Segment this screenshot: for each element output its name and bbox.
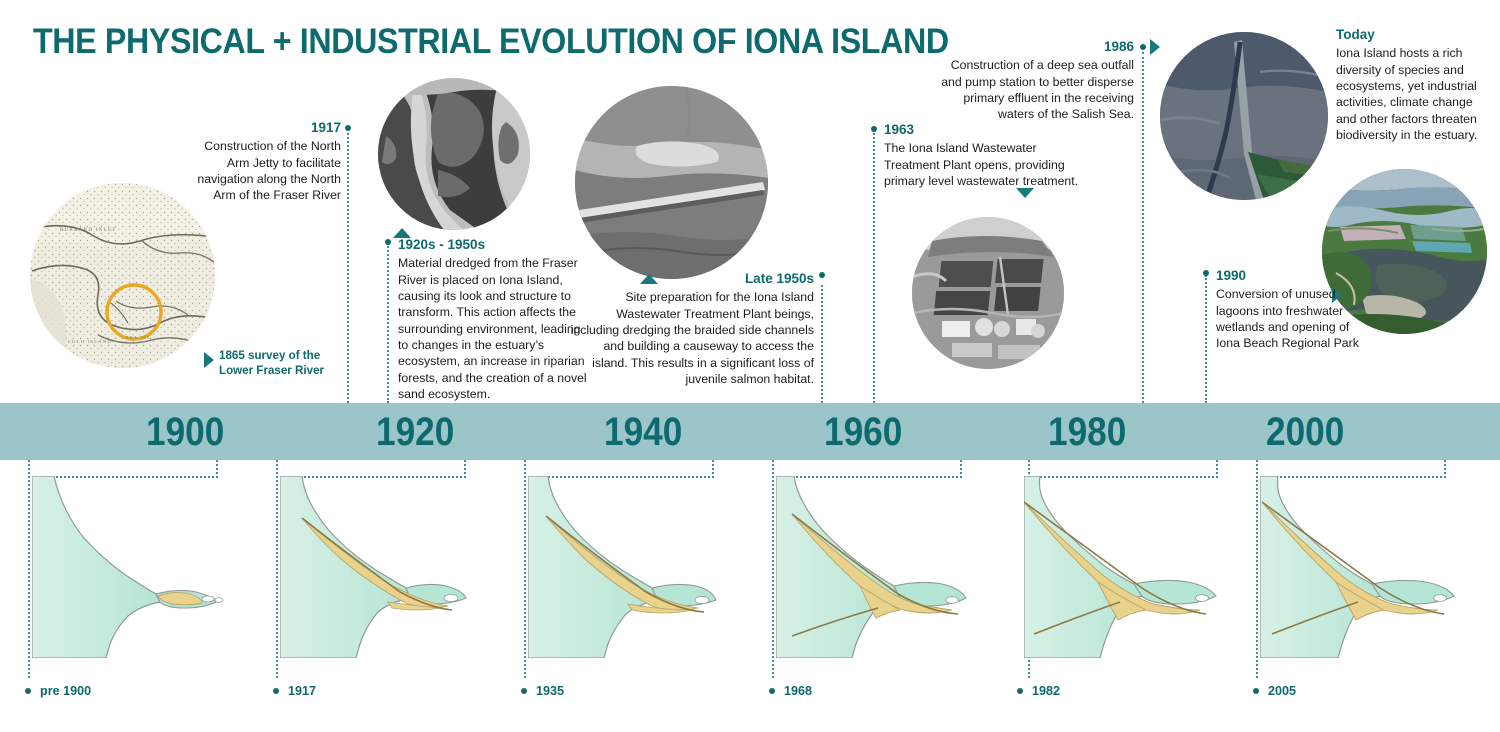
connector-line-1917 <box>347 128 349 403</box>
annotation-body: Iona Island hosts a rich diversity of sp… <box>1336 45 1491 143</box>
map-panel-pre-1900 <box>32 476 240 658</box>
infographic-canvas: THE PHYSICAL + INDUSTRIAL EVOLUTION OF I… <box>0 0 1500 732</box>
connector-dot-late1950s <box>819 272 825 278</box>
panel-dot-3 <box>521 688 527 694</box>
connector-line-1920s <box>387 243 389 403</box>
panel-dot-2 <box>273 688 279 694</box>
photo-1986-outfall <box>1160 32 1328 200</box>
panel-connector-line-2 <box>276 460 278 678</box>
connector-dot-1963 <box>871 126 877 132</box>
photo-1963-plant <box>912 217 1064 369</box>
annotation-year: 1920s - 1950s <box>398 236 594 254</box>
timeline-year-2000: 2000 <box>1266 410 1344 455</box>
annotation-year: 1917 <box>183 119 341 137</box>
annotation-body: Construction of the North Arm Jetty to f… <box>183 138 341 203</box>
timeline-year-1920: 1920 <box>376 410 454 455</box>
timeline-year-1900: 1900 <box>146 410 224 455</box>
annotation-1963: 1963 The Iona Island Wastewater Treatmen… <box>884 121 1084 189</box>
photo-1920s-aerial <box>378 78 530 230</box>
panel-connector-line-4 <box>772 460 774 678</box>
triangle-right-icon <box>204 352 214 368</box>
timeline-band: 1900 1920 1940 1960 1980 2000 <box>0 403 1500 460</box>
timeline-year-1980: 1980 <box>1048 410 1126 455</box>
map-panel-1917 <box>280 476 488 658</box>
connector-line-1990 <box>1205 275 1207 403</box>
panel-connector-line-3 <box>524 460 526 678</box>
map-panel-1982 <box>1024 476 1232 658</box>
connector-dot-1990 <box>1203 270 1209 276</box>
panel-connector-line-1 <box>28 460 30 678</box>
connector-line-1963 <box>873 130 875 403</box>
page-title: THE PHYSICAL + INDUSTRIAL EVOLUTION OF I… <box>33 22 949 62</box>
annotation-body: Site preparation for the Iona Island Was… <box>568 289 814 387</box>
panel-connector-line-6 <box>1256 460 1258 678</box>
panel-dot-4 <box>769 688 775 694</box>
annotation-year: 1963 <box>884 121 1084 139</box>
panel-dot-6 <box>1253 688 1259 694</box>
svg-text:SEA ISL: SEA ISL <box>126 335 151 340</box>
photo-1865-survey: BURRARD INLET LULU ISLAND SEA ISL <box>30 183 215 368</box>
connector-dot-1920s <box>385 239 391 245</box>
map-panel-1968 <box>776 476 984 658</box>
annotation-1917: 1917 Construction of the North Arm Jetty… <box>183 119 341 204</box>
annotation-1920s-1950s: 1920s - 1950s Material dredged from the … <box>398 236 594 402</box>
map-caption-line1: 1865 survey of the <box>219 348 324 363</box>
annotation-body: Material dredged from the Fraser River i… <box>398 255 594 402</box>
annotation-body: Conversion of unused lagoons into freshw… <box>1216 286 1371 351</box>
timeline-year-1960: 1960 <box>824 410 902 455</box>
panel-label-1935: 1935 <box>536 684 564 698</box>
annotation-body: The Iona Island Wastewater Treatment Pla… <box>884 140 1084 189</box>
timeline-year-1940: 1940 <box>604 410 682 455</box>
annotation-1986: 1986 Construction of a deep sea outfall … <box>930 38 1134 123</box>
panel-label-pre-1900: pre 1900 <box>40 684 91 698</box>
annotation-year: Late 1950s <box>568 270 814 288</box>
annotation-year: 1986 <box>930 38 1134 56</box>
panel-label-1968: 1968 <box>784 684 812 698</box>
triangle-right-icon-1986 <box>1150 39 1160 55</box>
panel-label-2005: 2005 <box>1268 684 1296 698</box>
map-caption-line2: Lower Fraser River <box>219 363 324 378</box>
connector-line-1986 <box>1142 52 1144 403</box>
map-panel-2005 <box>1260 476 1468 658</box>
map-caption-1865: 1865 survey of the Lower Fraser River <box>219 348 324 378</box>
connector-dot-1917 <box>345 125 351 131</box>
panel-dot-5 <box>1017 688 1023 694</box>
svg-text:BURRARD INLET: BURRARD INLET <box>60 228 117 233</box>
panel-dot-1 <box>25 688 31 694</box>
annotation-1990: 1990 Conversion of unused lagoons into f… <box>1216 267 1371 352</box>
panel-label-1982: 1982 <box>1032 684 1060 698</box>
connector-line-late1950s <box>821 285 823 403</box>
connector-dot-1986 <box>1140 44 1146 50</box>
annotation-year: 1990 <box>1216 267 1371 285</box>
svg-text:LULU ISLAND: LULU ISLAND <box>68 339 112 344</box>
annotation-year: Today <box>1336 26 1491 44</box>
panel-label-1917: 1917 <box>288 684 316 698</box>
annotation-today: Today Iona Island hosts a rich diversity… <box>1336 26 1491 143</box>
triangle-down-icon-1963 <box>1016 188 1034 198</box>
annotation-body: Construction of a deep sea outfall and p… <box>930 57 1134 122</box>
map-panel-1935 <box>528 476 736 658</box>
photo-1950s-aerial <box>575 86 768 279</box>
annotation-late-1950s: Late 1950s Site preparation for the Iona… <box>568 270 814 387</box>
